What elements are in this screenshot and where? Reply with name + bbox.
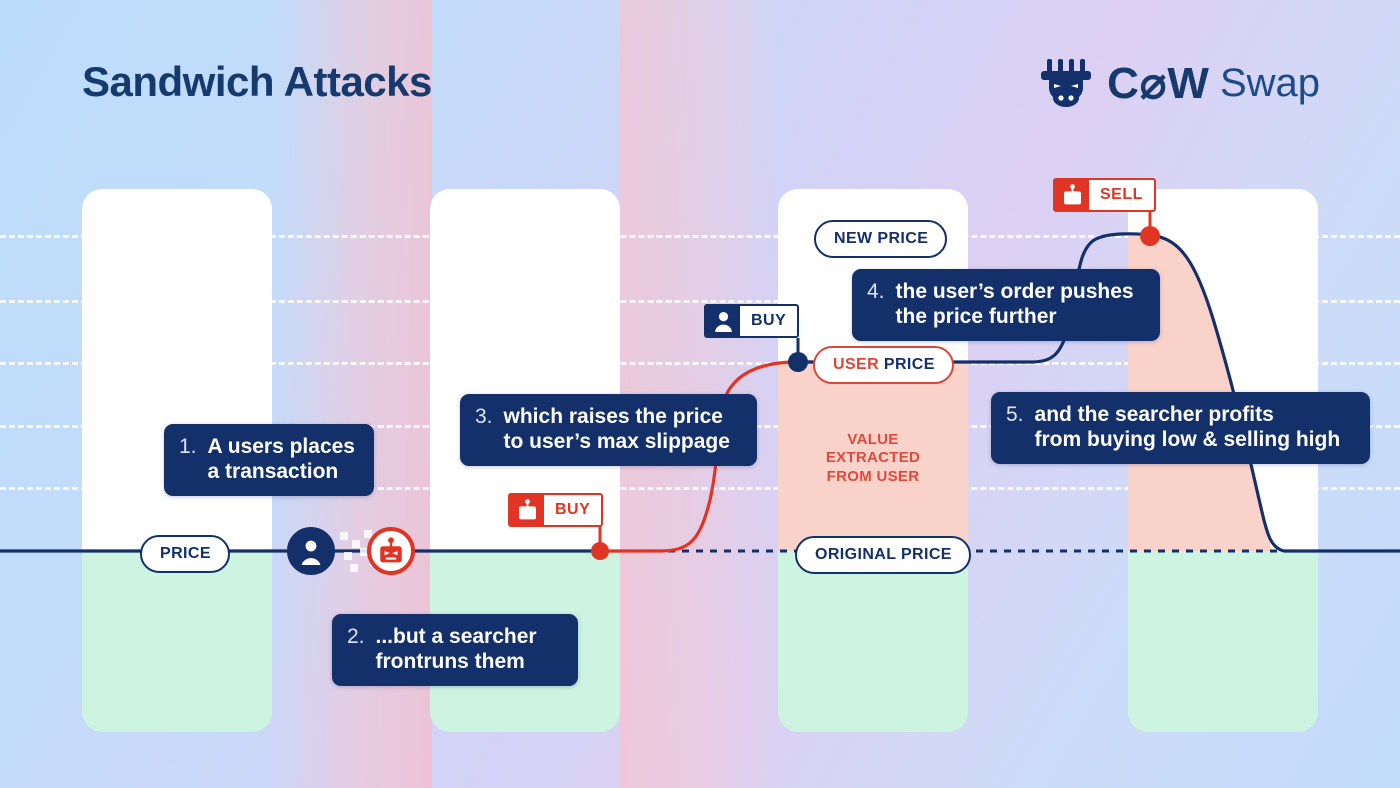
pixel	[344, 552, 352, 560]
callout-text: which raises the price to user’s max sli…	[504, 405, 730, 454]
pill-price: PRICE	[140, 535, 230, 573]
brand-swap-text: Swap	[1220, 61, 1320, 106]
callout-text: ...but a searcher frontruns them	[376, 625, 537, 674]
pill-original-price: ORIGINAL PRICE	[795, 536, 971, 574]
pill-new-price: NEW PRICE	[814, 220, 947, 258]
robot-icon	[378, 537, 404, 565]
badge-sell-searcher: SELL	[1053, 178, 1156, 212]
cow-head-icon	[1041, 57, 1097, 109]
callout-number: 1.	[179, 435, 197, 460]
badge-buy-searcher: BUY	[508, 493, 603, 527]
pill-user-price-suffix: PRICE	[884, 356, 935, 373]
callout-step-3: 3. which raises the price to user’s max …	[460, 394, 757, 466]
pill-user-price-prefix: USER	[833, 356, 884, 373]
callout-text: the user’s order pushes the price furthe…	[896, 280, 1134, 329]
column-top-white	[1128, 189, 1318, 551]
person-icon	[298, 538, 324, 565]
callout-text: and the searcher profits from buying low…	[1035, 403, 1341, 452]
value-extracted-label: VALUE EXTRACTED FROM USER	[798, 431, 948, 486]
robot-icon	[1055, 180, 1089, 210]
page-title: Sandwich Attacks	[82, 58, 432, 106]
column-top-white	[82, 189, 272, 551]
pixel	[340, 532, 348, 540]
person-glyph	[714, 311, 733, 332]
robot-glyph	[1063, 184, 1082, 206]
badge-label: BUY	[740, 306, 797, 336]
callout-number: 5.	[1006, 403, 1024, 428]
callout-step-1: 1. A users places a transaction	[164, 424, 374, 496]
brand-logo: C⌀W Swap	[1041, 57, 1320, 109]
person-icon	[706, 306, 740, 336]
pixel	[350, 564, 358, 572]
column-bottom-mint	[778, 551, 968, 732]
column-bottom-mint	[82, 551, 272, 732]
pixel	[352, 540, 360, 548]
robot-glyph	[518, 499, 537, 521]
badge-label: SELL	[1089, 180, 1154, 210]
callout-number: 2.	[347, 625, 365, 650]
badge-buy-user: BUY	[704, 304, 799, 338]
column-bottom-mint	[1128, 551, 1318, 732]
avatar-searcher	[367, 527, 415, 575]
callout-step-2: 2. ...but a searcher frontruns them	[332, 614, 578, 686]
pill-user-price: USER PRICE	[813, 346, 954, 384]
callout-step-4: 4. the user’s order pushes the price fur…	[852, 269, 1160, 341]
avatar-user	[287, 527, 335, 575]
callout-step-5: 5. and the searcher profits from buying …	[991, 392, 1370, 464]
robot-icon	[510, 495, 544, 525]
callout-number: 3.	[475, 405, 493, 430]
callout-number: 4.	[867, 280, 885, 305]
brand-cow-text: C⌀W	[1107, 58, 1210, 109]
callout-text: A users places a transaction	[208, 435, 355, 484]
badge-label: BUY	[544, 495, 601, 525]
